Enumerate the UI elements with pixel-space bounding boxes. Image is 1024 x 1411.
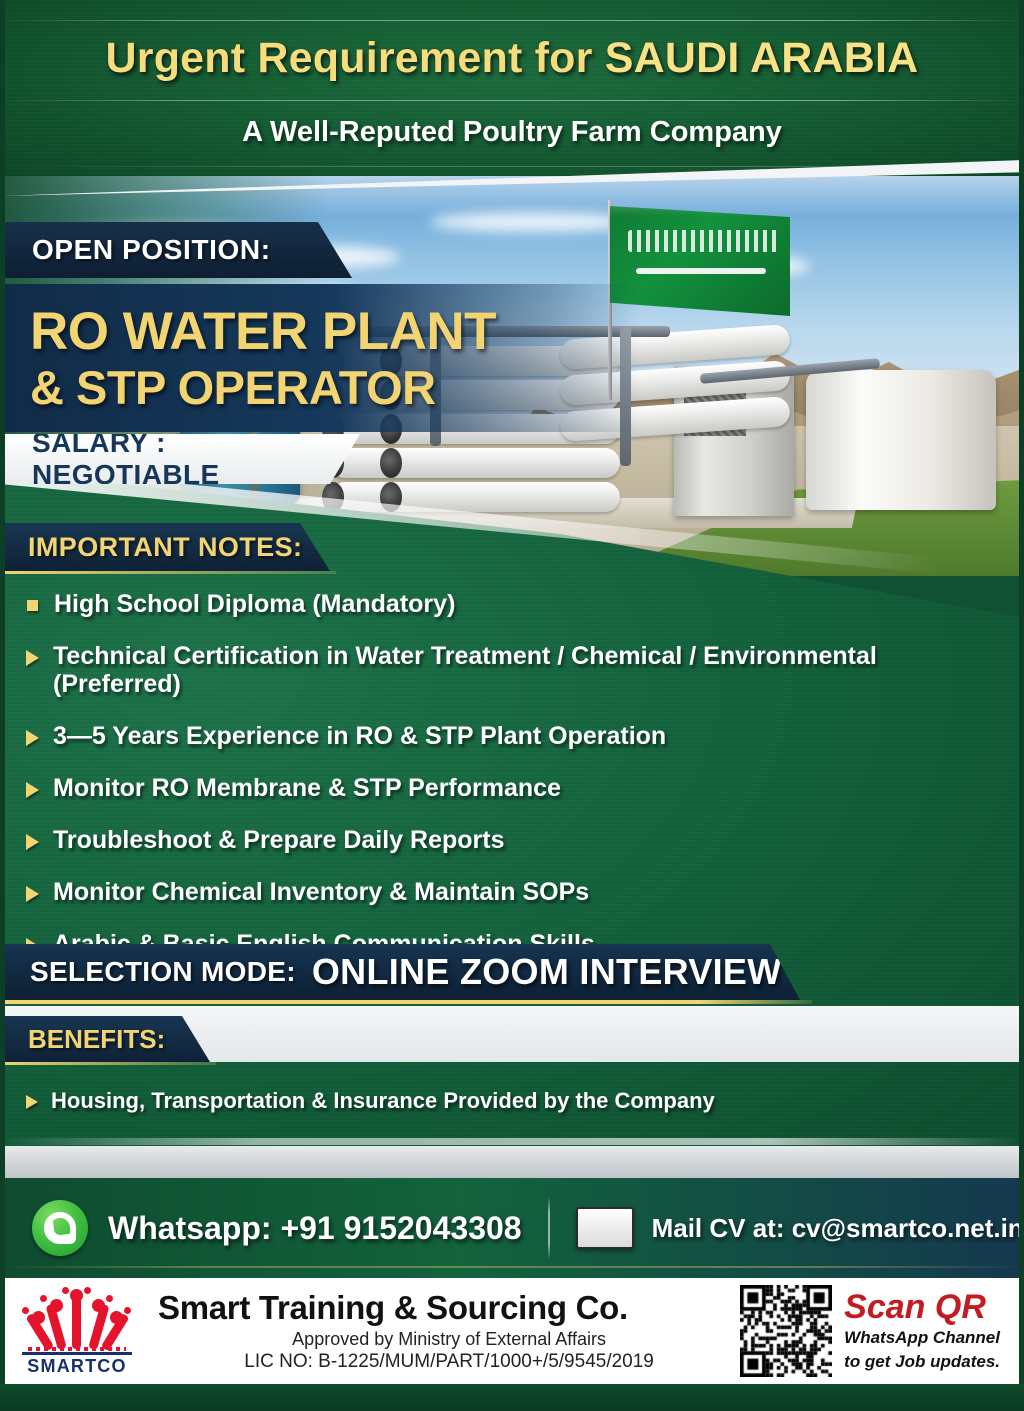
company-name: Smart Training & Sourcing Co. <box>158 1289 740 1327</box>
benefits-heading: BENEFITS: <box>28 1024 165 1055</box>
header-divider-top <box>0 20 1024 21</box>
company-license: LIC NO: B-1225/MUM/PART/1000+/5/9545/201… <box>158 1351 740 1373</box>
list-item: Monitor Chemical Inventory & Maintain SO… <box>26 878 1000 906</box>
logo-head <box>92 1299 105 1312</box>
company-approval: Approved by Ministry of External Affairs <box>158 1329 740 1350</box>
title-prefix: Urgent Requirement for <box>106 34 605 82</box>
logo-dot <box>62 1287 69 1294</box>
logo-person <box>72 1297 81 1349</box>
vessel-end-cap <box>380 448 402 478</box>
selection-mode-banner: SELECTION MODE: ONLINE ZOOM INTERVIEW <box>0 944 800 1000</box>
contact-bar: Whatsapp: +91 9152043308 Mail CV at: cv@… <box>0 1178 1024 1278</box>
triangle-bullet-icon <box>26 886 39 902</box>
poster-header: Urgent Requirement for SAUDI ARABIA A We… <box>0 0 1024 186</box>
benefits-underline <box>0 1062 216 1065</box>
triangle-bullet-icon <box>26 782 39 798</box>
salary-label: SALARY : NEGOTIABLE <box>32 427 360 491</box>
open-position-label: OPEN POSITION: <box>32 234 271 266</box>
list-item-text: Troubleshoot & Prepare Daily Reports <box>53 826 505 854</box>
flag-sword <box>636 268 766 274</box>
benefits-item-text: Housing, Transportation & Insurance Prov… <box>51 1088 715 1114</box>
notes-list: High School Diploma (Mandatory) Technica… <box>0 590 1000 982</box>
list-item: High School Diploma (Mandatory) <box>26 590 1000 618</box>
title-country: SAUDI ARABIA <box>605 34 919 82</box>
poster-edge-left <box>0 0 5 1384</box>
important-notes-heading: IMPORTANT NOTES: <box>28 532 302 563</box>
logo-head <box>70 1289 83 1302</box>
logo-wordmark: SMARTCO <box>20 1356 134 1377</box>
white-storage-tank <box>806 370 996 510</box>
scan-qr-block: Scan QR WhatsApp Channel to get Job upda… <box>844 1290 1000 1371</box>
important-notes-banner: IMPORTANT NOTES: <box>0 523 330 571</box>
logo-dot <box>22 1307 29 1314</box>
envelope-icon[interactable] <box>576 1207 634 1249</box>
selection-mode-label: SELECTION MODE: <box>30 956 296 988</box>
triangle-bullet-icon <box>26 730 39 746</box>
triangle-bullet-icon <box>26 1095 38 1109</box>
logo-dot <box>40 1295 47 1302</box>
logo-dot <box>106 1295 113 1302</box>
footer-company-block: Smart Training & Sourcing Co. Approved b… <box>158 1289 740 1373</box>
benefits-list-item: Housing, Transportation & Insurance Prov… <box>26 1088 715 1114</box>
contact-divider <box>548 1197 550 1259</box>
list-item-text: High School Diploma (Mandatory) <box>54 590 455 618</box>
list-item-text: 3—5 Years Experience in RO & STP Plant O… <box>53 722 666 750</box>
recruitment-poster: Urgent Requirement for SAUDI ARABIA A We… <box>0 0 1024 1411</box>
footer-green-band <box>0 1384 1024 1411</box>
header-divider-mid <box>0 100 1024 101</box>
list-item-text: Technical Certification in Water Treatme… <box>53 642 1000 698</box>
selection-mode-underline <box>0 1000 812 1004</box>
scan-qr-line-1: WhatsApp Channel <box>844 1328 1000 1348</box>
qr-code-icon[interactable] <box>740 1285 832 1377</box>
important-notes-underline <box>0 571 336 574</box>
logo-head <box>50 1299 63 1312</box>
poster-edge-right <box>1019 0 1024 1384</box>
logo-rule <box>22 1352 132 1355</box>
contact-top-divider <box>0 1146 1024 1178</box>
triangle-bullet-icon <box>26 834 39 850</box>
job-title-line-2: & STP OPERATOR <box>30 364 640 411</box>
logo-head <box>110 1311 123 1324</box>
scan-qr-line-2: to get Job updates. <box>844 1352 1000 1372</box>
list-item: 3—5 Years Experience in RO & STP Plant O… <box>26 722 1000 750</box>
flag-shahada-script <box>628 230 778 252</box>
whatsapp-icon[interactable] <box>32 1200 88 1256</box>
smartco-logo: SMARTCO <box>18 1285 136 1377</box>
poster-footer: SMARTCO Smart Training & Sourcing Co. Ap… <box>0 1278 1024 1384</box>
list-item: Troubleshoot & Prepare Daily Reports <box>26 826 1000 854</box>
page-subtitle: A Well-Reputed Poultry Farm Company <box>0 116 1024 149</box>
logo-head <box>32 1311 45 1324</box>
triangle-bullet-icon <box>26 650 39 666</box>
whatsapp-number[interactable]: Whatsapp: +91 9152043308 <box>108 1210 522 1247</box>
email-address[interactable]: Mail CV at: cv@smartco.net.in <box>652 1213 1024 1244</box>
scan-qr-title: Scan QR <box>844 1290 1000 1324</box>
open-position-banner: OPEN POSITION: <box>0 222 352 278</box>
ro-membrane-vessel <box>330 448 620 478</box>
logo-figures <box>18 1285 136 1349</box>
logo-dot <box>84 1287 91 1294</box>
logo-dot <box>124 1307 131 1314</box>
logo-dot-rule <box>28 1347 126 1351</box>
page-title: Urgent Requirement for SAUDI ARABIA <box>0 34 1024 83</box>
list-item: Technical Certification in Water Treatme… <box>26 642 1000 698</box>
selection-mode-value: ONLINE ZOOM INTERVIEW <box>312 951 782 993</box>
job-title-line-1: RO WATER PLANT <box>30 305 640 358</box>
job-title-banner: RO WATER PLANT & STP OPERATOR <box>0 284 640 432</box>
list-item-text: Monitor RO Membrane & STP Performance <box>53 774 561 802</box>
benefits-banner: BENEFITS: <box>0 1016 210 1062</box>
square-bullet-icon <box>27 600 38 611</box>
salary-banner: SALARY : NEGOTIABLE <box>0 434 360 484</box>
list-item-text: Monitor Chemical Inventory & Maintain SO… <box>53 878 589 906</box>
list-item: Monitor RO Membrane & STP Performance <box>26 774 1000 802</box>
